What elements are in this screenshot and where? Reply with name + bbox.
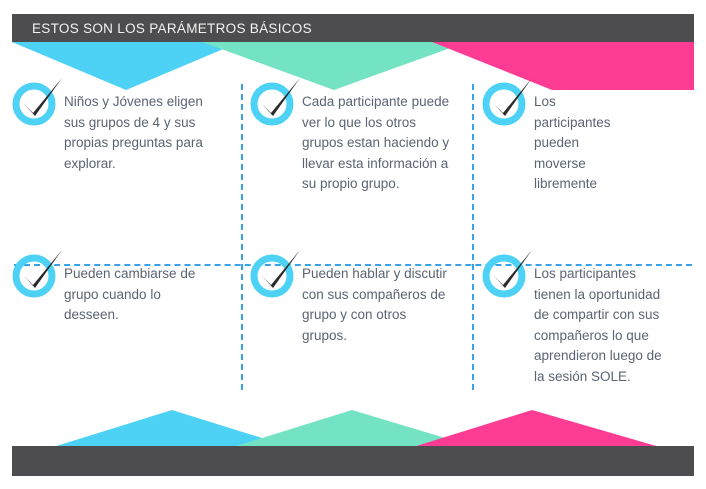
parameter-item-5: Pueden hablar y discutir con sus compañe… <box>246 256 468 346</box>
parameter-text-4: Pueden cambiarse de grupo cuando lo dess… <box>64 256 214 326</box>
parameter-text-6: Los participantes tienen la oportunidad … <box>534 256 674 387</box>
check-circle-icon <box>246 248 302 300</box>
check-circle-icon <box>478 76 534 128</box>
infographic-slide: ESTOS SON LOS PARÁMETROS BÁSICOS Niños y… <box>0 0 706 489</box>
vertical-divider-left <box>241 84 243 390</box>
footer-bar <box>12 446 694 476</box>
check-circle-icon <box>246 76 302 128</box>
teal-down-chevron <box>202 42 467 90</box>
header-bar: ESTOS SON LOS PARÁMETROS BÁSICOS <box>12 14 694 42</box>
parameter-text-1: Niños y Jóvenes eligen sus grupos de 4 y… <box>64 84 214 174</box>
page-title: ESTOS SON LOS PARÁMETROS BÁSICOS <box>12 21 312 36</box>
top-chevron-decoration <box>12 42 694 90</box>
parameter-item-2: Cada participante puede ver lo que los o… <box>246 84 468 195</box>
parameter-item-4: Pueden cambiarse de grupo cuando lo dess… <box>8 256 236 326</box>
parameter-item-3: Los participantes pueden moverse libreme… <box>478 84 696 195</box>
parameter-item-6: Los participantes tienen la oportunidad … <box>478 256 696 387</box>
pink-down-chevron <box>432 42 694 90</box>
vertical-divider-right <box>472 84 474 390</box>
parameter-text-3: Los participantes pueden moverse libreme… <box>534 84 629 195</box>
check-circle-icon <box>8 248 64 300</box>
parameter-text-2: Cada participante puede ver lo que los o… <box>302 84 457 195</box>
bottom-chevron-decoration <box>12 404 694 452</box>
parameter-item-1: Niños y Jóvenes eligen sus grupos de 4 y… <box>8 84 236 174</box>
parameter-text-5: Pueden hablar y discutir con sus compañe… <box>302 256 452 346</box>
check-circle-icon <box>478 248 534 300</box>
check-circle-icon <box>8 76 64 128</box>
